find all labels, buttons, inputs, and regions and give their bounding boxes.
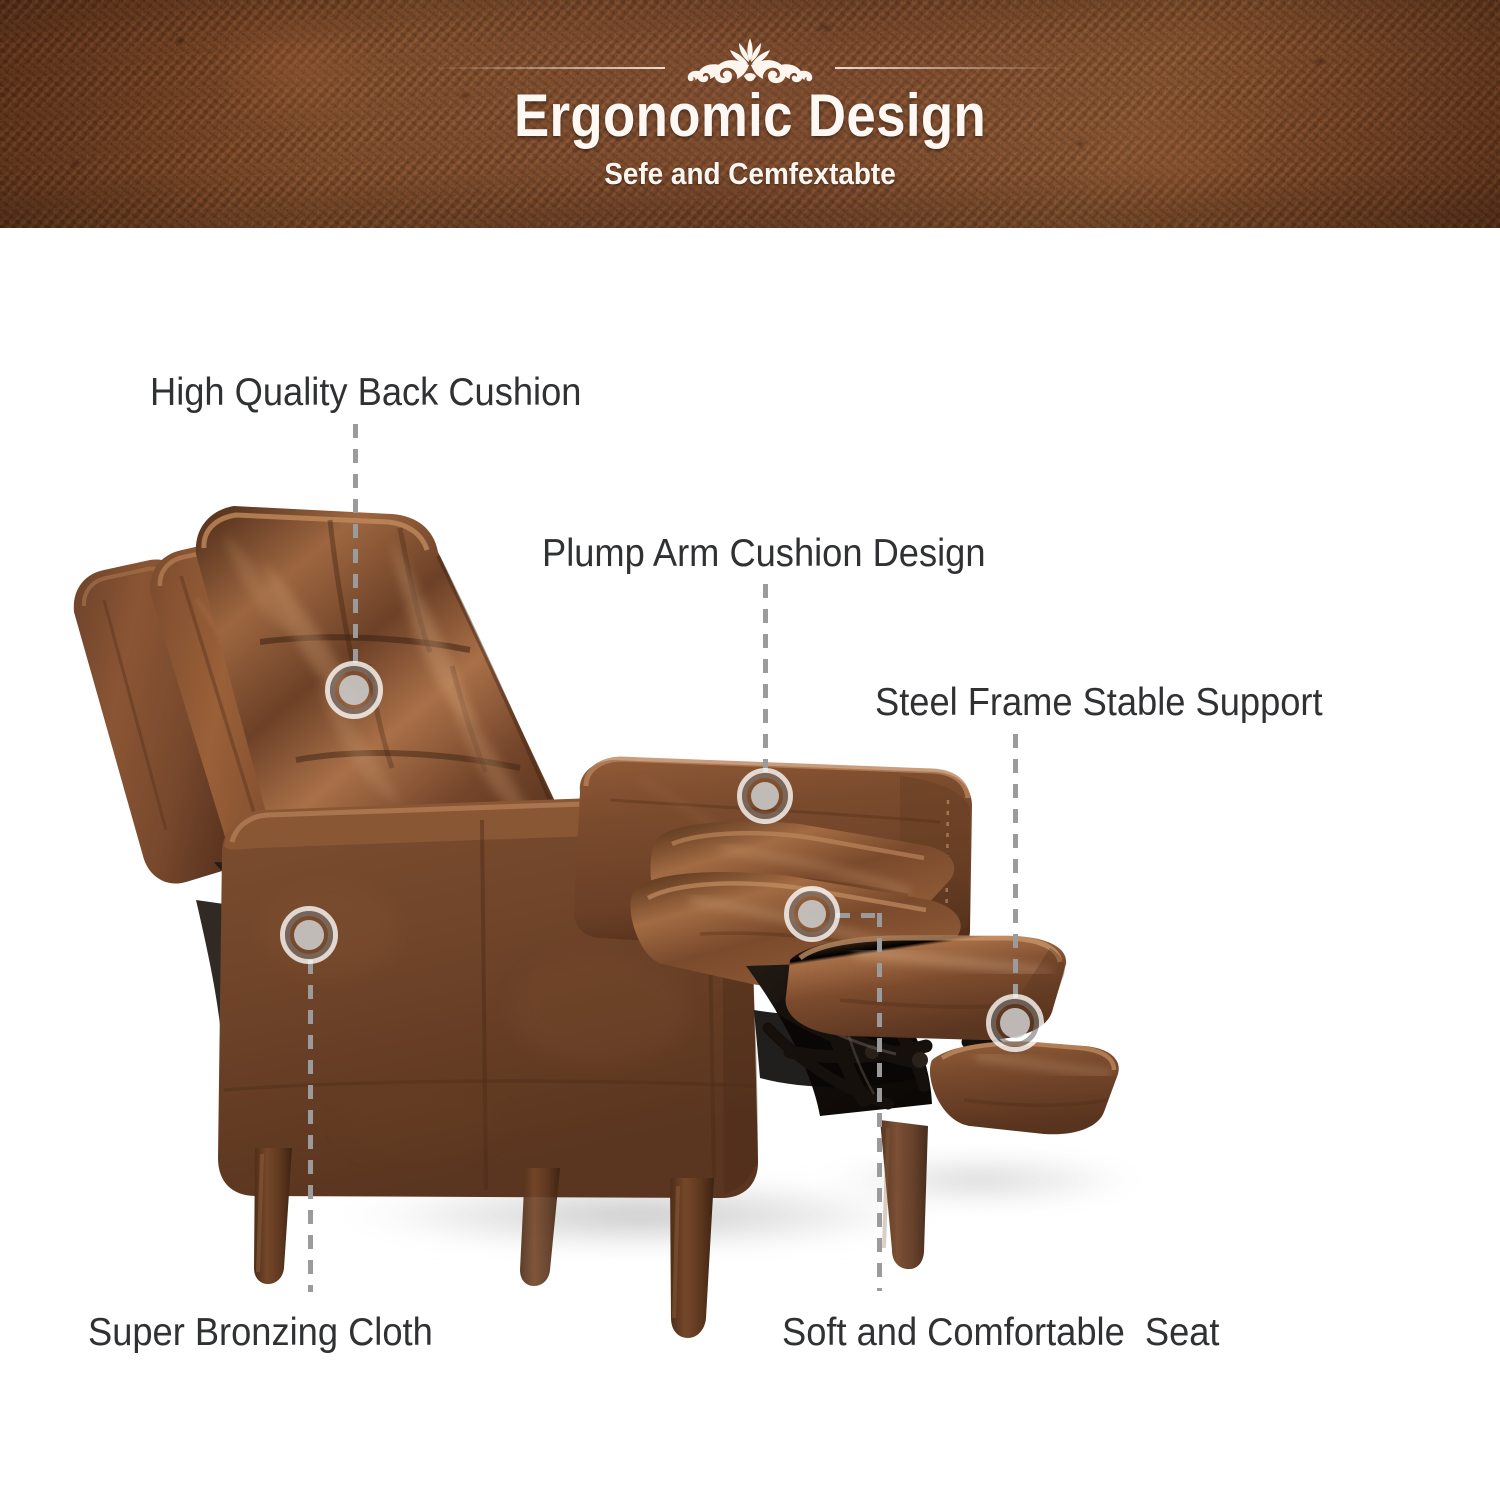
leader-line-arm-cushion (763, 584, 768, 772)
leader-line-steel-frame (1013, 734, 1018, 998)
leader-line-bronzing-cloth (308, 960, 313, 1292)
callout-label-back-cushion: High Quality Back Cushion (150, 371, 581, 415)
infographic-page: Ergonomic Design Sefe and Cemfextabte (0, 0, 1500, 1500)
recliner-chair-image (0, 0, 1500, 1500)
marker-comfortable-seat[interactable] (784, 886, 840, 942)
callout-label-comfortable-seat: Soft and Comfortable Seat (782, 1311, 1220, 1355)
leader-line-seat-vertical (877, 913, 882, 1291)
leader-line-seat-horizontal (836, 913, 882, 918)
leader-line-back-cushion (353, 424, 358, 666)
marker-steel-frame[interactable] (986, 994, 1044, 1052)
callout-label-steel-frame: Steel Frame Stable Support (875, 681, 1323, 725)
callout-label-bronzing-cloth: Super Bronzing Cloth (88, 1311, 433, 1355)
marker-arm-cushion[interactable] (737, 768, 793, 824)
callout-label-arm-cushion: Plump Arm Cushion Design (542, 532, 985, 576)
marker-bronzing-cloth[interactable] (280, 906, 338, 964)
marker-back-cushion[interactable] (325, 661, 383, 719)
